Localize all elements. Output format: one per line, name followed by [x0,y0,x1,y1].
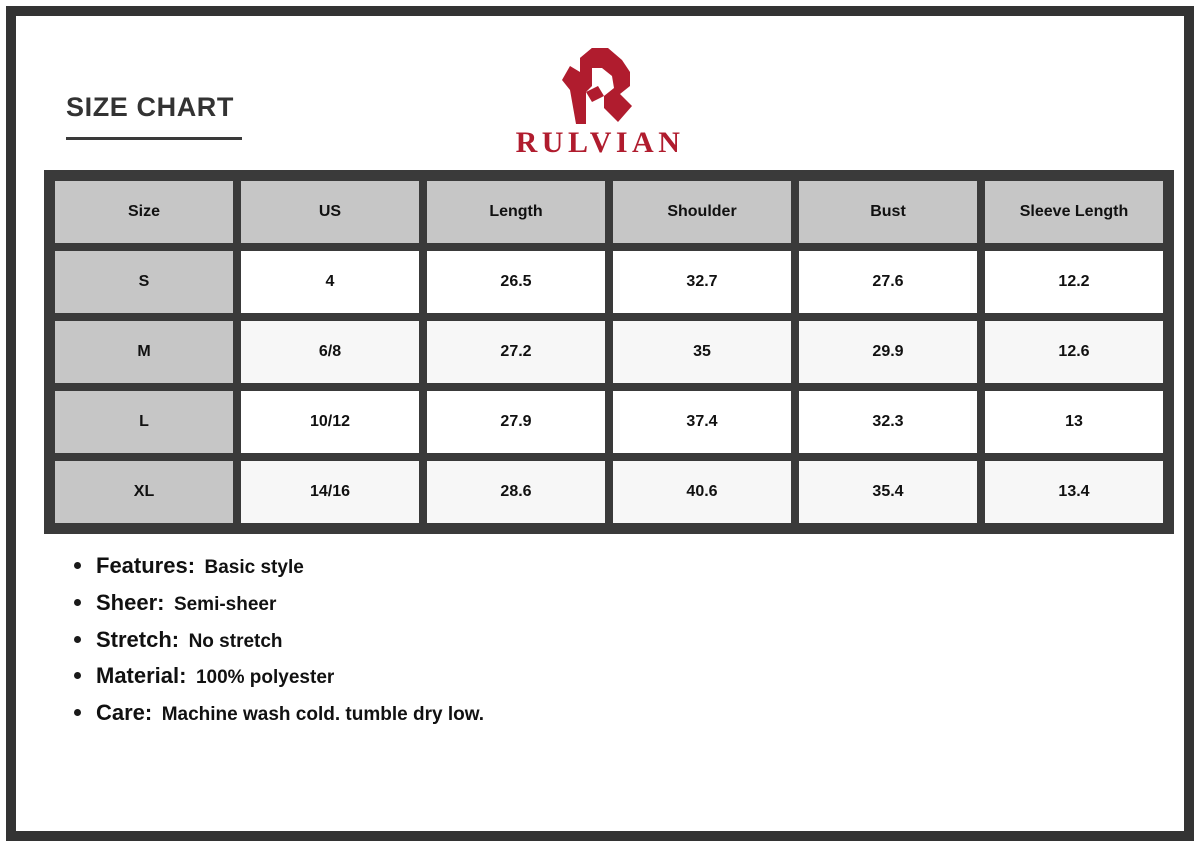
cell-length: 27.9 [423,387,609,457]
cell-bust: 29.9 [795,317,981,387]
spec-value-care: Machine wash cold. tumble dry low. [162,704,484,725]
size-chart-table: Size US Length Shoulder Bust Sleeve Leng… [44,170,1174,534]
spec-value-material: 100% polyester [196,667,334,688]
table-row: XL 14/16 28.6 40.6 35.4 13.4 [51,457,1167,527]
cell-size: M [51,317,237,387]
spec-label-features: Features: [96,553,195,578]
table-header-row: Size US Length Shoulder Bust Sleeve Leng… [51,177,1167,247]
column-header-size: Size [51,177,237,247]
cell-us: 14/16 [237,457,423,527]
cell-bust: 35.4 [795,457,981,527]
cell-length: 27.2 [423,317,609,387]
list-item: Sheer: Semi-sheer [74,589,1156,617]
cell-bust: 32.3 [795,387,981,457]
spec-label-care: Care: [96,700,152,725]
column-header-sleeve-length: Sleeve Length [981,177,1167,247]
cell-length: 26.5 [423,247,609,317]
spec-value-sheer: Semi-sheer [174,594,276,615]
cell-shoulder: 37.4 [609,387,795,457]
cell-bust: 27.6 [795,247,981,317]
cell-shoulder: 35 [609,317,795,387]
list-item: Care: Machine wash cold. tumble dry low. [74,699,1156,727]
spec-value-features: Basic style [205,557,304,578]
column-header-length: Length [423,177,609,247]
cell-sleeve-length: 12.6 [981,317,1167,387]
cell-shoulder: 40.6 [609,457,795,527]
cell-us: 6/8 [237,317,423,387]
spec-label-stretch: Stretch: [96,627,179,652]
spec-label-material: Material: [96,663,186,688]
table-row: S 4 26.5 32.7 27.6 12.2 [51,247,1167,317]
column-header-shoulder: Shoulder [609,177,795,247]
cell-sleeve-length: 13 [981,387,1167,457]
cell-sleeve-length: 12.2 [981,247,1167,317]
list-item: Features: Basic style [74,552,1156,580]
page-header: SIZE CHART RULVIAN [44,38,1156,160]
spec-value-stretch: No stretch [189,631,283,652]
cell-shoulder: 32.7 [609,247,795,317]
brand-wordmark: RULVIAN [516,128,685,158]
cell-length: 28.6 [423,457,609,527]
table-body: S 4 26.5 32.7 27.6 12.2 M 6/8 27.2 35 29… [51,247,1167,527]
cell-us: 4 [237,247,423,317]
list-item: Stretch: No stretch [74,626,1156,654]
size-chart-page: SIZE CHART RULVIAN Size [0,0,1200,847]
page-content: SIZE CHART RULVIAN Size [16,16,1184,831]
cell-size: XL [51,457,237,527]
brand-logo: RULVIAN [44,46,1156,158]
spec-label-sheer: Sheer: [96,590,164,615]
product-specs-list: Features: Basic style Sheer: Semi-sheer … [44,552,1156,727]
table-header: Size US Length Shoulder Bust Sleeve Leng… [51,177,1167,247]
column-header-bust: Bust [795,177,981,247]
rulvian-r-monogram-icon [548,46,652,126]
cell-size: L [51,387,237,457]
list-item: Material: 100% polyester [74,662,1156,690]
column-header-us: US [237,177,423,247]
cell-us: 10/12 [237,387,423,457]
cell-size: S [51,247,237,317]
table-row: M 6/8 27.2 35 29.9 12.6 [51,317,1167,387]
cell-sleeve-length: 13.4 [981,457,1167,527]
page-frame: SIZE CHART RULVIAN Size [6,6,1194,841]
table-row: L 10/12 27.9 37.4 32.3 13 [51,387,1167,457]
